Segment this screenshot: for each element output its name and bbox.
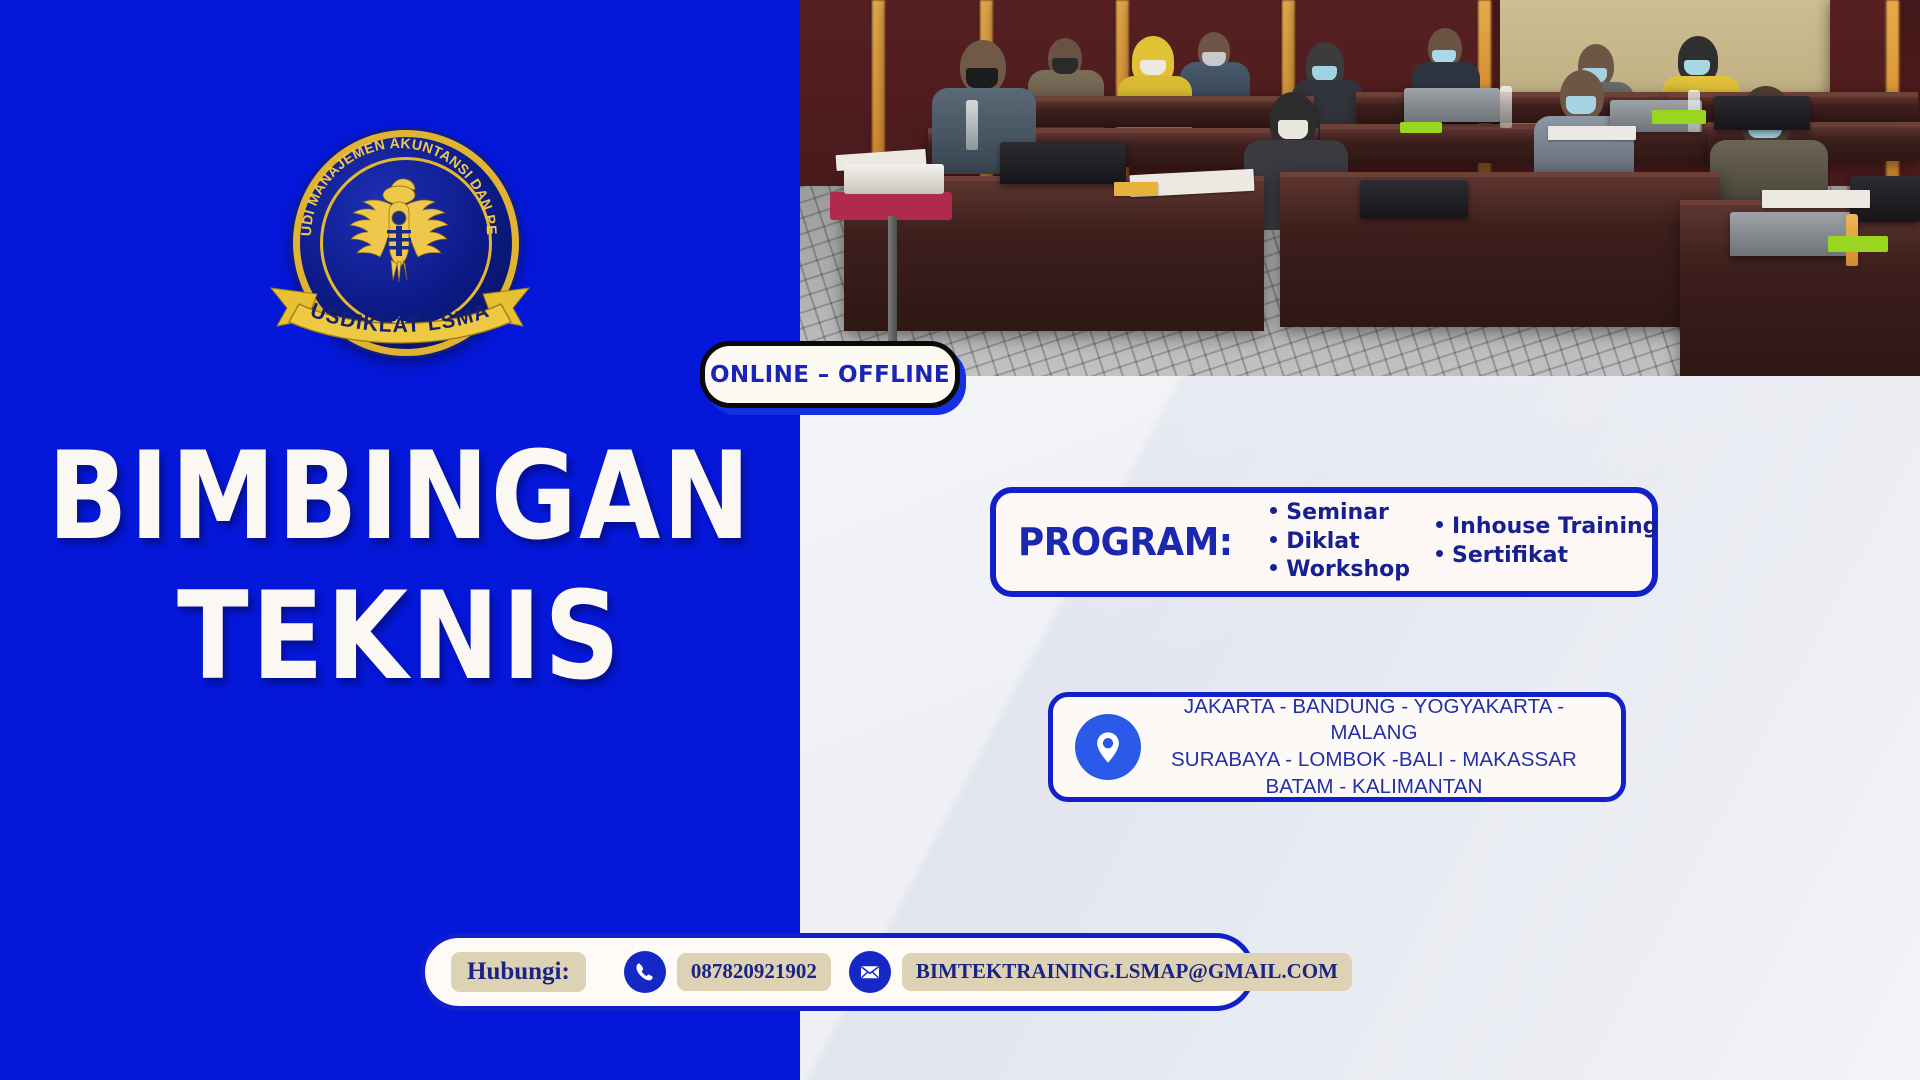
program-item: Inhouse Training — [1436, 514, 1658, 541]
online-offline-badge[interactable]: ONLINE – OFFLINE — [700, 341, 960, 408]
program-column-2: Inhouse Training Sertifikat — [1436, 500, 1658, 584]
headline: BIMBINGAN TEKNIS — [0, 440, 800, 678]
pusdiklat-lsmap-logo: LEMBAGA STUDI MANAJEMEN AKUNTANSI DAN PE… — [265, 130, 535, 355]
program-box: PROGRAM: Seminar Diklat Workshop — [990, 487, 1658, 597]
program-item: Diklat — [1270, 529, 1410, 556]
email-contact[interactable]: BIMTEKTRAINING.LSMAP@GMAIL.COM — [849, 951, 1352, 993]
online-offline-badge-label: ONLINE – OFFLINE — [710, 362, 950, 388]
bullet-icon — [1270, 536, 1277, 543]
training-room-photo — [800, 0, 1920, 376]
locations-text: JAKARTA - BANDUNG - YOGYAKARTA - MALANG … — [1141, 694, 1621, 801]
program-item: Workshop — [1270, 557, 1410, 584]
phone-number: 087820921902 — [677, 953, 831, 991]
bullet-icon — [1270, 564, 1277, 571]
program-label: PROGRAM: — [1018, 520, 1233, 564]
headline-line-2: TEKNIS — [0, 580, 808, 695]
envelope-icon — [849, 951, 891, 993]
program-item-label: Diklat — [1286, 529, 1359, 556]
program-item-label: Inhouse Training — [1452, 514, 1658, 541]
location-pin-icon — [1075, 714, 1141, 780]
program-item: Seminar — [1270, 500, 1410, 527]
promotional-banner: LEMBAGA STUDI MANAJEMEN AKUNTANSI DAN PE… — [0, 0, 1920, 1080]
email-address: BIMTEKTRAINING.LSMAP@GMAIL.COM — [902, 953, 1352, 991]
contact-bar: Hubungi: 087820921902 BIMTEKTRAINING.LSM… — [420, 933, 1255, 1011]
program-item-label: Workshop — [1286, 557, 1410, 584]
logo-ribbon: PUSDIKLAT LSMAP — [265, 270, 535, 350]
program-item: Sertifikat — [1436, 543, 1658, 570]
contact-label: Hubungi: — [451, 952, 586, 992]
phone-icon — [624, 951, 666, 993]
headline-line-1: BIMBINGAN — [0, 440, 808, 555]
locations-box: JAKARTA - BANDUNG - YOGYAKARTA - MALANG … — [1048, 692, 1626, 802]
locations-line: JAKARTA - BANDUNG - YOGYAKARTA - MALANG — [1141, 694, 1607, 747]
locations-line: SURABAYA - LOMBOK -BALI - MAKASSAR — [1141, 747, 1607, 774]
garuda-emblem-icon — [339, 174, 459, 284]
bullet-icon — [1270, 507, 1277, 514]
program-column-1: Seminar Diklat Workshop — [1270, 500, 1410, 584]
phone-contact[interactable]: 087820921902 — [624, 951, 831, 993]
program-item-label: Seminar — [1286, 500, 1389, 527]
program-columns: Seminar Diklat Workshop Inhouse Training — [1270, 500, 1658, 584]
bullet-icon — [1436, 550, 1443, 557]
program-item-label: Sertifikat — [1452, 543, 1568, 570]
bullet-icon — [1436, 521, 1443, 528]
locations-line: BATAM - KALIMANTAN — [1141, 774, 1607, 801]
